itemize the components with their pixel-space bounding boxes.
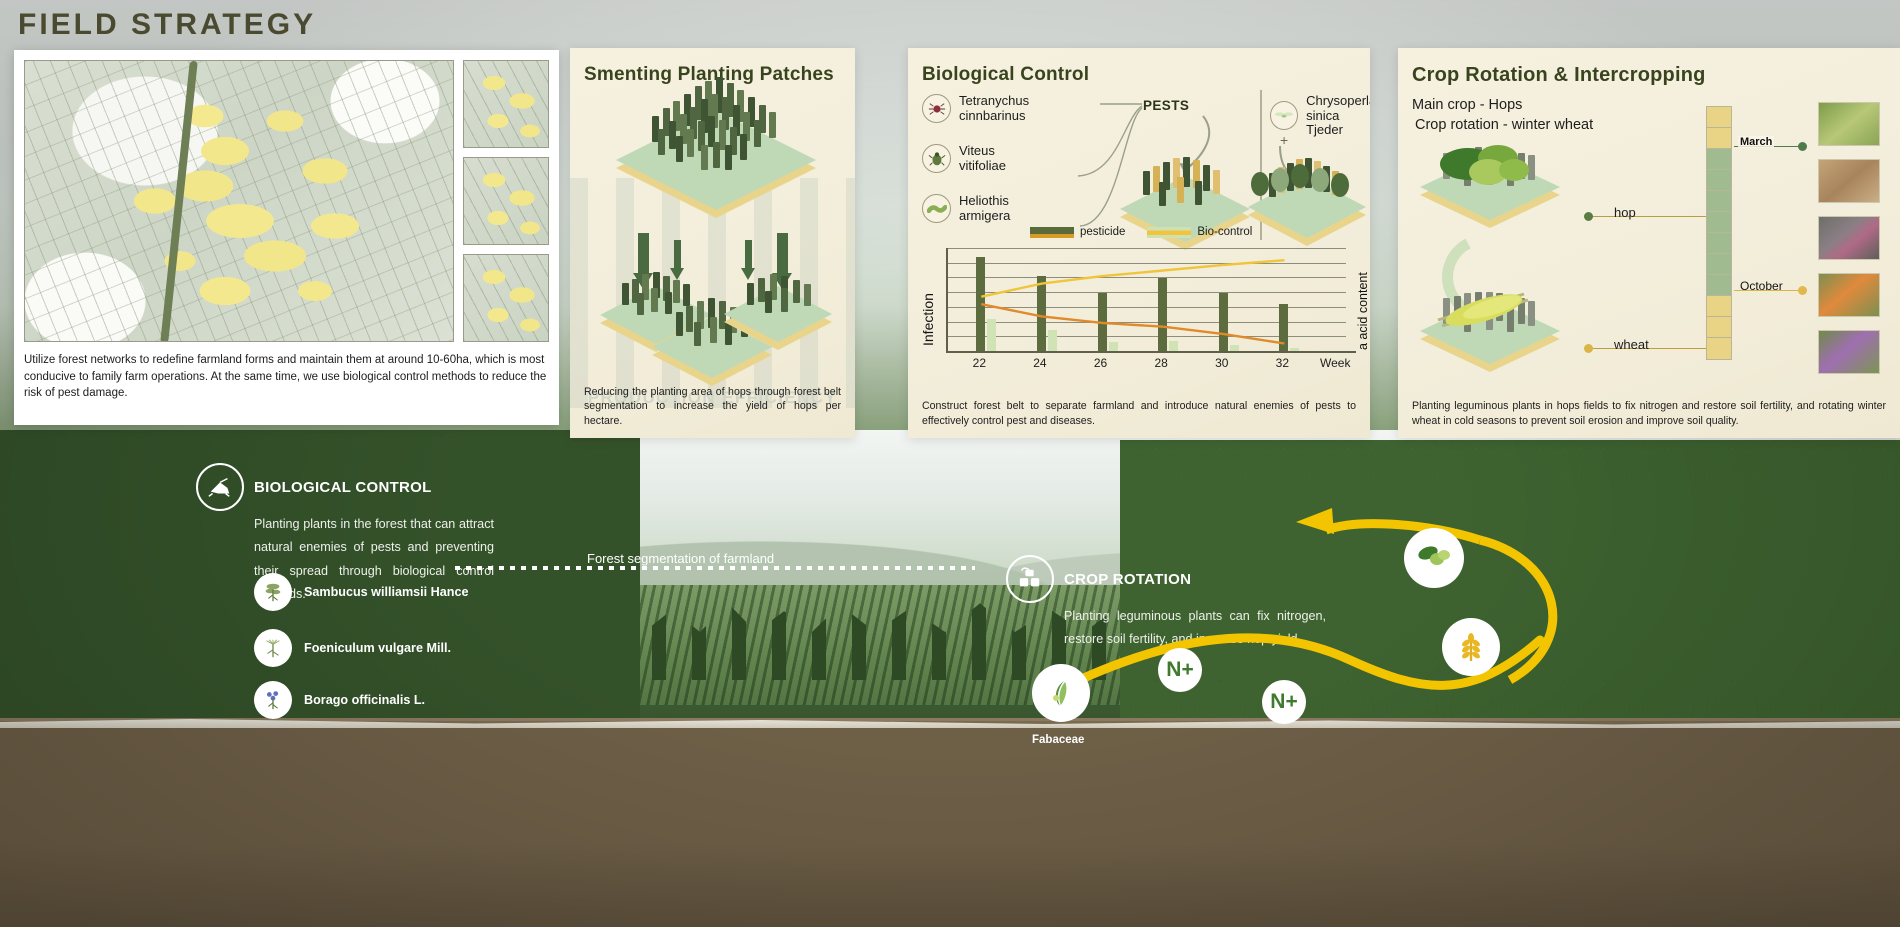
- biological-caption: Construct forest belt to separate farmla…: [922, 399, 1356, 428]
- plant-name-1: Sambucus williamsii Hance: [304, 585, 468, 599]
- timeline-segment: [1707, 233, 1731, 254]
- pest-item-2: Viteusvitifoliae: [922, 144, 1006, 173]
- hop-lead-line: [1590, 216, 1710, 217]
- timeline-segment: [1707, 296, 1731, 317]
- segmenting-caption: Reducing the planting area of hops throu…: [584, 385, 841, 428]
- map-caption: Utilize forest networks to redefine farm…: [24, 352, 549, 402]
- farmland-map[interactable]: [24, 60, 454, 342]
- wheat-label: wheat: [1614, 336, 1649, 354]
- flowering-legume-photo[interactable]: [1818, 330, 1880, 374]
- pest-name-3: Heliothisarmigera: [959, 194, 1010, 223]
- wheat-lead-dot: [1584, 344, 1593, 353]
- map-thumbnails: [463, 60, 549, 342]
- october-label: October: [1738, 279, 1785, 293]
- march-lead-dot: [1798, 142, 1807, 151]
- october-lead-dot: [1798, 286, 1807, 295]
- legume-pods-photo[interactable]: [1818, 102, 1880, 146]
- plant-item-3[interactable]: Borago officinalis L.: [254, 681, 425, 719]
- wheat-ear-icon[interactable]: [1442, 618, 1500, 676]
- chart-line-bio-control-line: [981, 260, 1284, 297]
- hop-cone-cluster-icon: [1434, 138, 1544, 194]
- map-thumb-3[interactable]: [463, 254, 549, 342]
- forest-segmentation-label: Forest segmentation of farmland: [587, 551, 774, 566]
- chart-xlabel: Week: [1320, 356, 1350, 370]
- map-panel: Utilize forest networks to redefine farm…: [14, 50, 559, 425]
- biological-control-panel: Biological Control Tetranychuscinnbarinu…: [908, 48, 1370, 438]
- plant-item-2[interactable]: Foeniculum vulgare Mill.: [254, 629, 451, 667]
- predator-name: Chrysoperlasinica Tjeder: [1306, 94, 1370, 138]
- timeline-segment: [1707, 191, 1731, 212]
- season-timeline: [1706, 106, 1732, 360]
- plot-stems: [640, 68, 792, 160]
- infection-acid-chart: pesticide Bio-control Infection a acid c…: [908, 226, 1370, 376]
- hop-label: hop: [1614, 204, 1636, 222]
- timeline-segment: [1707, 128, 1731, 149]
- nitrogen-badge-2: N+: [1262, 680, 1306, 724]
- timeline-segment: [1707, 107, 1731, 128]
- wheat-plot: [1420, 298, 1560, 364]
- map-row: [24, 60, 549, 342]
- page-title: FIELD STRATEGY: [18, 8, 316, 42]
- aphid-icon: [922, 144, 951, 173]
- pest-item-3: Heliothisarmigera: [922, 194, 1010, 223]
- chart-ylabel-right: a acid content: [1356, 272, 1370, 350]
- chart-lines: [948, 248, 1348, 351]
- soil-cross-section: [0, 718, 1900, 927]
- chart-x-axis: [946, 351, 1356, 353]
- chart-legend: pesticide Bio-control: [1030, 226, 1252, 238]
- timeline-segment: [1707, 212, 1731, 233]
- plant-name-3: Borago officinalis L.: [304, 693, 425, 707]
- pest-item-1: Tetranychuscinnbarinus: [922, 94, 1029, 123]
- grasshopper-icon: [196, 463, 244, 511]
- forest-segmentation-dotted-line: [455, 566, 975, 570]
- timeline-segment: [1707, 338, 1731, 359]
- predator-bushes: [1246, 154, 1368, 204]
- plant-name-2: Foeniculum vulgare Mill.: [304, 641, 451, 655]
- pest-name-1: Tetranychuscinnbarinus: [959, 94, 1029, 123]
- sprout-stones-photo[interactable]: [1818, 216, 1880, 260]
- map-thumb-1[interactable]: [463, 60, 549, 148]
- hop-cone-icon[interactable]: [1404, 528, 1464, 588]
- chart-xtick: 30: [1208, 356, 1236, 370]
- timeline-segment: [1707, 149, 1731, 170]
- carrot-photo[interactable]: [1818, 273, 1880, 317]
- chart-xtick: 26: [1087, 356, 1115, 370]
- legend-swatch-biocontrol: [1147, 227, 1191, 238]
- crop-rotation-title: Crop Rotation & Intercropping: [1398, 48, 1900, 87]
- dense-hop-plot: [616, 110, 816, 210]
- wheat-lead-line: [1590, 348, 1710, 349]
- split-plot-right: [724, 286, 832, 342]
- nitrogen-badge-1: N+: [1158, 648, 1202, 692]
- chart-line-pesticide-line: [981, 304, 1284, 343]
- hop-lead-dot: [1584, 212, 1593, 221]
- wheat-sheaf-icon: [1432, 286, 1548, 334]
- rotation-caption: Planting leguminous plants in hops field…: [1412, 399, 1886, 428]
- legend-label-biocontrol: Bio-control: [1197, 226, 1252, 238]
- chart-xtick: 28: [1147, 356, 1175, 370]
- fabaceae-label: Fabaceae: [1032, 734, 1084, 746]
- timeline-segment: [1707, 317, 1731, 338]
- segmenting-panel: Smenting Planting Patches PRODUCTION EFF…: [570, 48, 855, 438]
- map-yellow-patches: [25, 61, 453, 341]
- chart-plot-area: [946, 248, 1346, 351]
- chart-xtick: 32: [1268, 356, 1296, 370]
- hop-plot: [1420, 154, 1560, 220]
- timeline-segment: [1707, 170, 1731, 191]
- legend-pesticide: pesticide: [1030, 226, 1125, 238]
- caterpillar-icon: [922, 194, 951, 223]
- timeline-segment: [1707, 254, 1731, 275]
- plant-item-1[interactable]: Sambucus williamsii Hance: [254, 573, 468, 611]
- biological-control-overlay-title: BIOLOGICAL CONTROL: [254, 479, 432, 496]
- biological-control-title: Biological Control: [908, 48, 1370, 86]
- borage-icon: [254, 681, 292, 719]
- chart-ylabel-left: Infection: [920, 293, 936, 346]
- timeline-segment: [1707, 275, 1731, 296]
- map-thumb-2[interactable]: [463, 157, 549, 245]
- legend-swatch-pesticide: [1030, 227, 1074, 238]
- pest-name-2: Viteusvitifoliae: [959, 144, 1006, 173]
- fennel-icon: [254, 629, 292, 667]
- chart-xtick: 24: [1026, 356, 1054, 370]
- legend-biocontrol: Bio-control: [1147, 226, 1252, 238]
- legend-label-pesticide: pesticide: [1080, 226, 1125, 238]
- peanuts-photo[interactable]: [1818, 159, 1880, 203]
- main-crop-line: Main crop - Hops: [1412, 96, 1522, 116]
- spider-mite-icon: [922, 94, 951, 123]
- crop-rotation-panel: Crop Rotation & Intercropping Main crop …: [1398, 48, 1900, 438]
- lacewing-icon: [1270, 101, 1298, 130]
- march-label: March: [1738, 136, 1774, 148]
- legume-pod-icon[interactable]: [1032, 664, 1090, 722]
- elderberry-icon: [254, 573, 292, 611]
- chart-xtick: 22: [965, 356, 993, 370]
